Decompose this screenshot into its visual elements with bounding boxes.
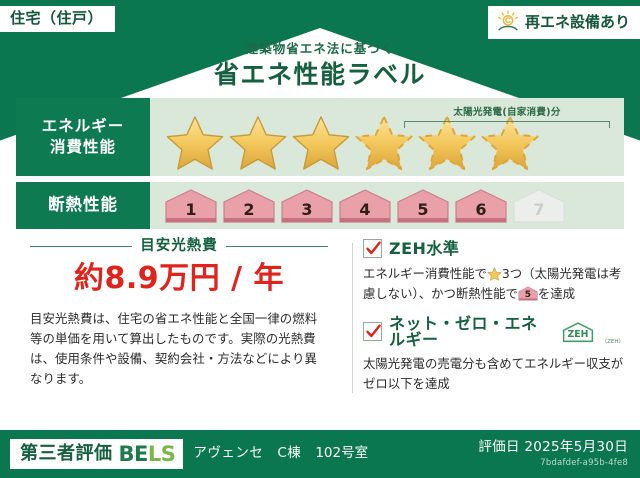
utility-cost-heading: 目安光熱費 — [16, 239, 342, 254]
checkbox-checked-icon — [363, 322, 382, 341]
zeh-standard-body: エネルギー消費性能で3つ（太陽光発電は考慮しない）、かつ断熱性能で5を達成 — [363, 264, 624, 304]
zeh-standard-block: ZEH水準 エネルギー消費性能で3つ（太陽光発電は考慮しない）、かつ断熱性能で5… — [363, 239, 624, 304]
pv-bracket-line — [404, 121, 610, 128]
insulation-chip-label: 2 — [243, 202, 254, 224]
star-icon-filled — [227, 114, 289, 172]
footer-right-block: 評価日 2025年5月30日 7bdafdef-a95b-4fe8 — [478, 439, 640, 468]
property-room: 102号室 — [315, 447, 368, 461]
dwelling-type-label: 住宅（住戸） — [10, 9, 103, 27]
heading-rule-left — [30, 246, 132, 247]
sun-icon — [496, 10, 520, 34]
insulation-chip-2: 2 — [222, 188, 276, 224]
zeh-standard-heading: ZEH水準 — [363, 239, 624, 258]
energy-stars-panel: 太陽光発電(自家消費)分 — [150, 98, 624, 176]
zeh-body-part1: エネルギー消費性能で — [363, 266, 487, 281]
checkbox-checked-icon — [363, 239, 382, 258]
svg-text:ZEH: ZEH — [567, 329, 588, 340]
zeh-standard-title: ZEH水準 — [389, 241, 459, 257]
insulation-chip-5: 5 — [396, 188, 450, 224]
certification-column: ZEH水準 エネルギー消費性能で3つ（太陽光発電は考慮しない）、かつ断熱性能で5… — [363, 239, 624, 397]
heading-rule-right — [226, 246, 328, 247]
energy-performance-label: エネルギー 消費性能 — [16, 98, 150, 176]
pv-bracket: 太陽光発電(自家消費)分 — [404, 108, 610, 128]
insulation-performance-label: 断熱性能 — [16, 182, 150, 229]
energy-label-root: 住宅（住戸） 再エネ設備あり 建築物省エネ法に基づく 省エネ性能ラベル — [0, 0, 640, 478]
label-footer: 第三者評価 BELS アヴェンセ C棟 102号室 評価日 2025年5月30日… — [0, 430, 640, 478]
energy-performance-row: エネルギー 消費性能 太陽光発電(自家消費)分 — [16, 98, 624, 176]
net-zero-title: ネット・ゼロ・エネルギー — [389, 316, 554, 348]
star-icon-inline — [487, 267, 502, 282]
zeh-body-part2: を達成 — [538, 286, 575, 301]
renewable-equipment-label: 再エネ設備あり — [525, 15, 630, 30]
insulation-chip-label: 6 — [475, 202, 486, 224]
page-title: 省エネ性能ラベル — [0, 61, 640, 89]
insulation-label-text: 断熱性能 — [48, 194, 118, 216]
net-zero-heading: ネット・ゼロ・エネルギー ZEH （ZEH） — [363, 316, 624, 348]
bels-logo-part2: LS — [148, 442, 176, 466]
net-zero-energy-block: ネット・ゼロ・エネルギー ZEH （ZEH） 太陽光発電の売電分も含めてエネルギ… — [363, 316, 624, 394]
label-title-block: 建築物省エネ法に基づく 省エネ性能ラベル — [0, 42, 640, 88]
energy-label-line1: エネルギー — [42, 116, 125, 137]
energy-label-line2: 消費性能 — [50, 137, 116, 158]
label-content: エネルギー 消費性能 太陽光発電(自家消費)分 — [16, 98, 624, 424]
insulation-chip-4: 4 — [338, 188, 392, 224]
insulation-chip-1: 1 — [164, 188, 218, 224]
bels-badge: 第三者評価 BELS — [10, 439, 183, 469]
column-divider — [352, 243, 353, 393]
net-zero-body: 太陽光発電の売電分も含めてエネルギー収支がゼロ以下を達成 — [363, 354, 624, 394]
title-subtitle: 建築物省エネ法に基づく — [0, 42, 640, 56]
insulation-chip-inline: 5 — [518, 286, 538, 301]
bels-logo: BELS — [119, 444, 176, 465]
lower-section: 目安光熱費 約8.9万円 / 年 目安光熱費は、住宅の省エネ性能と全国一律の燃料… — [16, 239, 624, 397]
zeh-badge-subtext: （ZEH） — [602, 340, 624, 348]
star-icon-filled — [164, 114, 226, 172]
insulation-chip-label: 4 — [359, 202, 370, 224]
star-icon-filled — [290, 114, 352, 172]
insulation-performance-row: 断熱性能 1 2 3 4 — [16, 182, 624, 229]
pv-bracket-label: 太陽光発電(自家消費)分 — [404, 108, 610, 118]
renewable-equipment-badge: 再エネ設備あり — [488, 6, 640, 39]
insulation-chip-label: 7 — [533, 202, 544, 224]
bels-logo-part1: BE — [119, 442, 148, 466]
insulation-chip-3: 3 — [280, 188, 334, 224]
insulation-chip-7: 7 — [512, 188, 566, 224]
third-party-eval-label: 第三者評価 — [20, 445, 113, 463]
insulation-chip-6: 6 — [454, 188, 508, 224]
utility-cost-heading-text: 目安光熱費 — [140, 239, 218, 254]
insulation-chip-inline-value: 5 — [518, 286, 538, 301]
zeh-house-badge-icon: ZEH — [561, 321, 595, 343]
utility-cost-column: 目安光熱費 約8.9万円 / 年 目安光熱費は、住宅の省エネ性能と全国一律の燃料… — [16, 239, 352, 397]
evaluation-id: 7bdafdef-a95b-4fe8 — [478, 458, 628, 469]
evaluation-date: 評価日 2025年5月30日 — [478, 439, 628, 455]
insulation-chips: 1 2 3 4 5 — [150, 182, 624, 229]
property-name: アヴェンセ C棟 — [193, 447, 301, 461]
utility-cost-value: 約8.9万円 / 年 — [16, 262, 342, 295]
utility-cost-note: 目安光熱費は、住宅の省エネ性能と全国一律の燃料等の単価を用いて算出したものです。… — [16, 309, 342, 389]
insulation-chip-label: 3 — [301, 202, 312, 224]
insulation-chip-label: 1 — [185, 202, 196, 224]
dwelling-type-badge: 住宅（住戸） — [0, 6, 115, 32]
insulation-chip-label: 5 — [417, 202, 428, 224]
